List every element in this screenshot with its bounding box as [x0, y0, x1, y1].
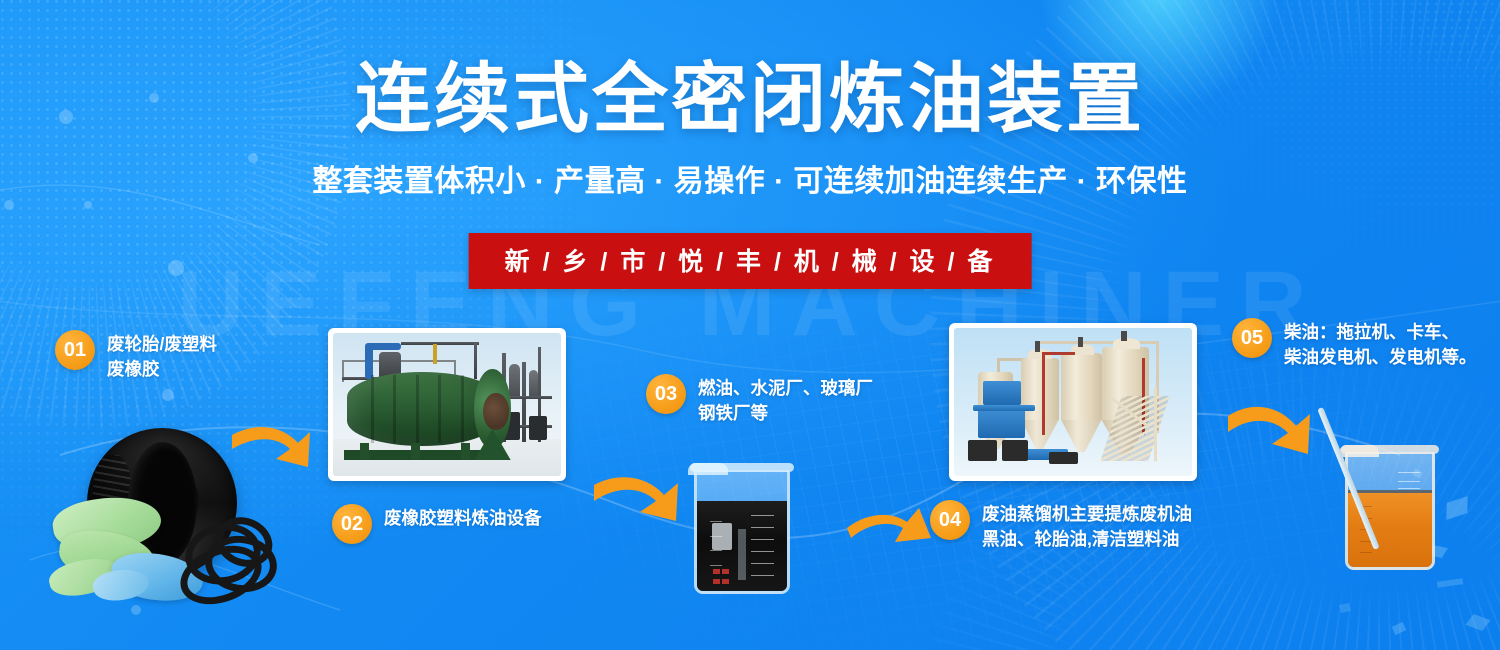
step-02: 02 废橡胶塑料炼油设备 — [332, 504, 542, 544]
step-01: 01 废轮胎/废塑料 废橡胶 — [55, 330, 217, 383]
diesel-oil-beaker — [1345, 452, 1435, 570]
step-label: 柴油：拖拉机、卡车、 柴油发电机、发电机等。 — [1284, 318, 1477, 371]
floating-shard — [1392, 622, 1407, 635]
arrow-materials-to-reactor — [228, 415, 320, 481]
step-04: 04 废油蒸馏机主要提炼废机油 黑油、轮胎油,清洁塑料油 — [930, 500, 1192, 553]
floating-shard — [1446, 496, 1468, 520]
company-name-bar: 新 / 乡 / 市 / 悦 / 丰 / 机 / 械 / 设 / 备 — [469, 233, 1032, 289]
step-number-badge: 02 — [332, 504, 372, 544]
floating-shard — [1339, 603, 1350, 613]
step-label: 废油蒸馏机主要提炼废机油 黑油、轮胎油,清洁塑料油 — [982, 500, 1192, 553]
step-03: 03 燃油、水泥厂、玻璃厂 钢铁厂等 — [646, 374, 873, 427]
step-number-badge: 03 — [646, 374, 686, 414]
arrow-distiller-to-diesel — [1226, 392, 1322, 464]
page-subtitle: 整套装置体积小 · 产量高 · 易操作 · 可连续加油连续生产 · 环保性 — [0, 163, 1500, 201]
black-fuel-oil-beaker — [694, 470, 790, 594]
step-05: 05 柴油：拖拉机、卡车、 柴油发电机、发电机等。 — [1232, 318, 1477, 371]
floating-shard — [1437, 578, 1464, 588]
step-label: 废橡胶塑料炼油设备 — [384, 504, 542, 531]
company-name-text: 新 / 乡 / 市 / 悦 / 丰 / 机 / 械 / 设 / 备 — [505, 242, 996, 278]
promo-banner: UEFENG MACHINER 连续式全密闭炼油装置 整套装置体积小 · 产量高… — [0, 0, 1500, 650]
page-title: 连续式全密闭炼油装置 — [0, 62, 1500, 138]
pyrolysis-reactor-photo — [328, 328, 566, 481]
arrow-reactor-to-crude-oil — [592, 463, 688, 533]
dot-pattern-decoration-2 — [1120, 0, 1500, 290]
step-label: 燃油、水泥厂、玻璃厂 钢铁厂等 — [698, 374, 873, 427]
arrow-crude-oil-to-distiller — [845, 480, 941, 552]
floating-shard — [1465, 614, 1490, 631]
step-number-badge: 05 — [1232, 318, 1272, 358]
step-number-badge: 01 — [55, 330, 95, 370]
step-number-badge: 04 — [930, 500, 970, 540]
oil-distillation-plant-photo — [949, 323, 1197, 481]
step-label: 废轮胎/废塑料 废橡胶 — [107, 330, 217, 383]
